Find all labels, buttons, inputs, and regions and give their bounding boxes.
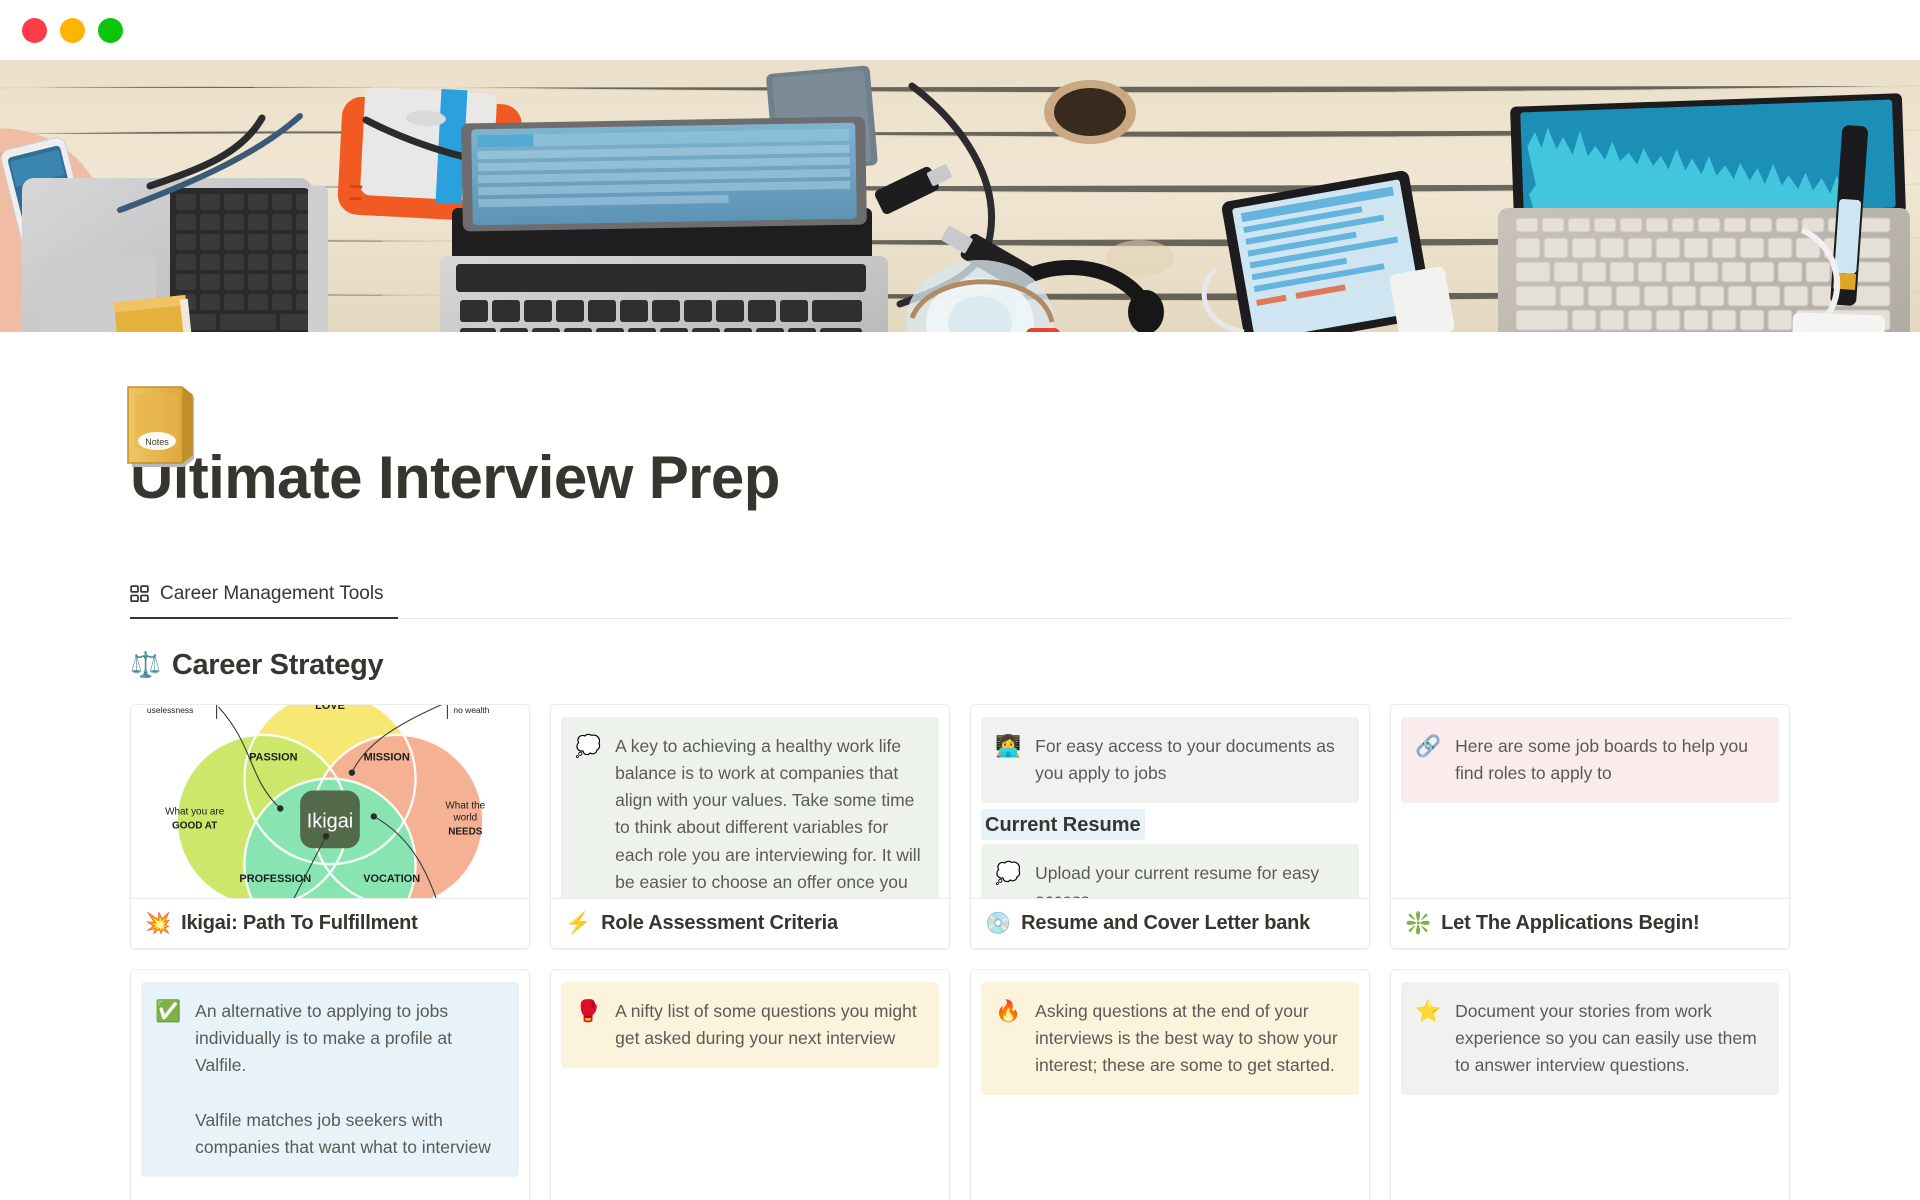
- callout-block: ⭐ Document your stories from work experi…: [1401, 982, 1779, 1095]
- svg-text:MISSION: MISSION: [364, 752, 410, 764]
- tab-career-management-tools[interactable]: Career Management Tools: [130, 583, 398, 619]
- desk-photo-illustration: Notes: [0, 60, 1920, 332]
- svg-text:PASSION: PASSION: [249, 752, 298, 764]
- card-footer: ⚡ Role Assessment Criteria: [551, 898, 949, 948]
- callout-block: 🔗 Here are some job boards to help you f…: [1401, 717, 1779, 803]
- page-icon-notebook[interactable]: Notes: [126, 385, 202, 471]
- svg-text:no wealth: no wealth: [453, 705, 489, 715]
- svg-text:PROFESSION: PROFESSION: [239, 873, 311, 885]
- callout-text: For easy access to your documents as you…: [1035, 733, 1341, 787]
- callout-block: 🥊 A nifty list of some questions you mig…: [561, 982, 939, 1068]
- card-footer: ❇️ Let The Applications Begin!: [1391, 898, 1789, 948]
- card-grid: Ikigai LOVE PASSION MISSION PROFESSION V…: [130, 704, 1790, 1200]
- thought-balloon-icon: 💭: [995, 860, 1021, 888]
- svg-text:world: world: [452, 812, 477, 823]
- card-preview: 🔗 Here are some job boards to help you f…: [1391, 705, 1789, 898]
- card-title: Ikigai: Path To Fulfillment: [181, 912, 417, 935]
- page-body: Notes Ultimate Interview Prep Career Man…: [0, 445, 1920, 1200]
- callout-text: Here are some job boards to help you fin…: [1455, 733, 1761, 787]
- card-interview-questions-list[interactable]: 🥊 A nifty list of some questions you mig…: [550, 969, 950, 1200]
- card-preview: 👩‍💻 For easy access to your documents as…: [971, 705, 1369, 898]
- balance-scale-icon: ⚖️: [130, 653, 161, 678]
- section-heading-label: Career Strategy: [172, 649, 384, 682]
- callout-text: A key to achieving a healthy work life b…: [615, 733, 921, 898]
- card-preview: 🥊 A nifty list of some questions you mig…: [551, 970, 949, 1200]
- card-resume-and-cover-letter-bank[interactable]: 👩‍💻 For easy access to your documents as…: [970, 704, 1370, 949]
- collision-icon: 💥: [145, 913, 171, 934]
- card-title: Let The Applications Begin!: [1441, 912, 1699, 935]
- card-footer: 💥 Ikigai: Path To Fulfillment: [131, 898, 529, 948]
- page-content: Ultimate Interview Prep Career Managemen…: [0, 445, 1920, 1200]
- card-title: Role Assessment Criteria: [601, 912, 838, 935]
- svg-text:What you are: What you are: [165, 806, 225, 817]
- callout-block: 💭 A key to achieving a healthy work life…: [561, 717, 939, 898]
- page-cover-image: Notes: [0, 60, 1920, 332]
- link-icon: 🔗: [1415, 733, 1441, 761]
- card-preview: 🔥 Asking questions at the end of your in…: [971, 970, 1369, 1200]
- page-title: Ultimate Interview Prep: [130, 445, 1790, 511]
- callout-block: 💭 Upload your current resume for easy ac…: [981, 844, 1359, 898]
- card-valfile-profile[interactable]: ✅ An alternative to applying to jobs ind…: [130, 969, 530, 1200]
- callout-block: 👩‍💻 For easy access to your documents as…: [981, 717, 1359, 803]
- card-questions-to-ask[interactable]: 🔥 Asking questions at the end of your in…: [970, 969, 1370, 1200]
- card-subheading: Current Resume: [981, 809, 1145, 840]
- woman-technologist-icon: 👩‍💻: [995, 733, 1021, 761]
- window-titlebar: [0, 0, 1920, 60]
- card-preview: ⭐ Document your stories from work experi…: [1391, 970, 1789, 1200]
- card-story-bank[interactable]: ⭐ Document your stories from work experi…: [1390, 969, 1790, 1200]
- svg-text:VOCATION: VOCATION: [363, 873, 420, 885]
- tab-bar: Career Management Tools: [130, 573, 1790, 619]
- grid-icon: [130, 585, 149, 604]
- svg-text:Ikigai: Ikigai: [307, 810, 353, 832]
- svg-text:uselessness: uselessness: [147, 705, 193, 715]
- card-preview: Ikigai LOVE PASSION MISSION PROFESSION V…: [131, 705, 529, 898]
- close-window-button[interactable]: [22, 18, 47, 43]
- sparkle-icon: ❇️: [1405, 913, 1431, 934]
- thought-balloon-icon: 💭: [575, 733, 601, 761]
- callout-block: ✅ An alternative to applying to jobs ind…: [141, 982, 519, 1177]
- callout-text: An alternative to applying to jobs indiv…: [195, 998, 501, 1161]
- callout-block: 🔥 Asking questions at the end of your in…: [981, 982, 1359, 1095]
- check-mark-icon: ✅: [155, 998, 181, 1026]
- callout-text: Asking questions at the end of your inte…: [1035, 998, 1341, 1079]
- boxing-glove-icon: 🥊: [575, 998, 601, 1026]
- card-ikigai[interactable]: Ikigai LOVE PASSION MISSION PROFESSION V…: [130, 704, 530, 949]
- svg-text:What the: What the: [445, 800, 485, 811]
- card-preview: ✅ An alternative to applying to jobs ind…: [131, 970, 529, 1200]
- lightning-icon: ⚡: [565, 913, 591, 934]
- callout-text: A nifty list of some questions you might…: [615, 998, 921, 1052]
- card-let-the-applications-begin[interactable]: 🔗 Here are some job boards to help you f…: [1390, 704, 1790, 949]
- star-icon: ⭐: [1415, 998, 1441, 1026]
- tab-label: Career Management Tools: [160, 583, 384, 605]
- card-footer: 💿 Resume and Cover Letter bank: [971, 898, 1369, 948]
- svg-text:GOOD AT: GOOD AT: [172, 820, 217, 831]
- maximize-window-button[interactable]: [98, 18, 123, 43]
- optical-disk-icon: 💿: [985, 913, 1011, 934]
- fire-icon: 🔥: [995, 998, 1021, 1026]
- section-heading-career-strategy: ⚖️ Career Strategy: [130, 649, 1790, 682]
- callout-text: Document your stories from work experien…: [1455, 998, 1761, 1079]
- card-title: Resume and Cover Letter bank: [1021, 912, 1310, 935]
- card-preview: 💭 A key to achieving a healthy work life…: [551, 705, 949, 898]
- minimize-window-button[interactable]: [60, 18, 85, 43]
- svg-text:Notes: Notes: [145, 437, 169, 447]
- callout-text: Upload your current resume for easy acce…: [1035, 860, 1341, 898]
- svg-text:NEEDS: NEEDS: [448, 826, 483, 837]
- card-role-assessment-criteria[interactable]: 💭 A key to achieving a healthy work life…: [550, 704, 950, 949]
- ikigai-venn-diagram: Ikigai LOVE PASSION MISSION PROFESSION V…: [131, 705, 529, 898]
- svg-text:LOVE: LOVE: [315, 705, 345, 712]
